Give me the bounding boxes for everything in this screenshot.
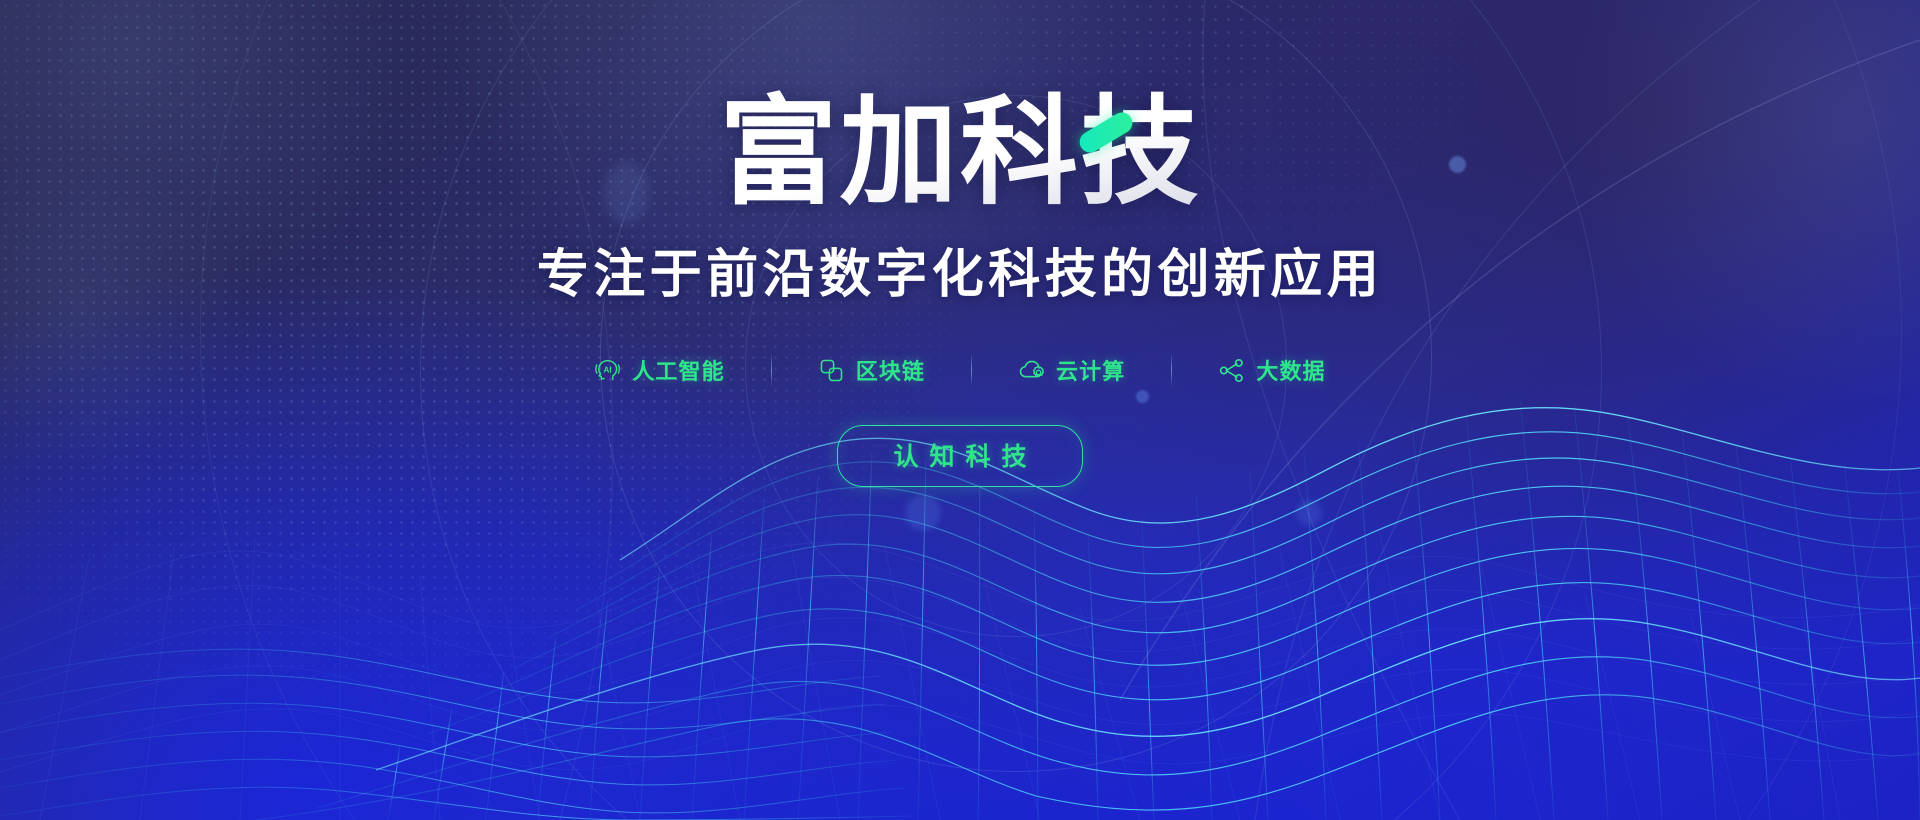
hero-banner: 富加科技 专注于前沿数字化科技的创新应用 AI 人工智能: [0, 0, 1920, 820]
ai-head-icon: AI: [594, 357, 621, 384]
feature-tag-label: 云计算: [1056, 354, 1125, 386]
brand-logo: 富加科技: [719, 86, 1200, 218]
feature-tag-bigdata[interactable]: 大数据: [1172, 354, 1371, 386]
blockchain-blocks-icon: [818, 357, 845, 384]
feature-tag-label: 人工智能: [632, 354, 724, 386]
feature-tag-label: 区块链: [856, 354, 925, 386]
feature-tag-ai[interactable]: AI 人工智能: [548, 354, 770, 386]
hero-tagline: 专注于前沿数字化科技的创新应用: [537, 232, 1383, 307]
hero-content: 富加科技 专注于前沿数字化科技的创新应用 AI 人工智能: [0, 0, 1920, 820]
brand-logo-text: 富加科技: [719, 83, 1200, 221]
feature-tag-list: AI 人工智能 区块链 云计算: [548, 353, 1371, 387]
feature-tag-cloud[interactable]: 云计算: [972, 354, 1171, 386]
svg-text:AI: AI: [604, 365, 612, 374]
cloud-gear-icon: [1018, 357, 1045, 384]
cognitive-tech-badge[interactable]: 认知科技: [837, 425, 1082, 487]
feature-tag-label: 大数据: [1256, 354, 1325, 386]
share-network-icon: [1218, 357, 1245, 384]
feature-tag-blockchain[interactable]: 区块链: [772, 354, 971, 386]
